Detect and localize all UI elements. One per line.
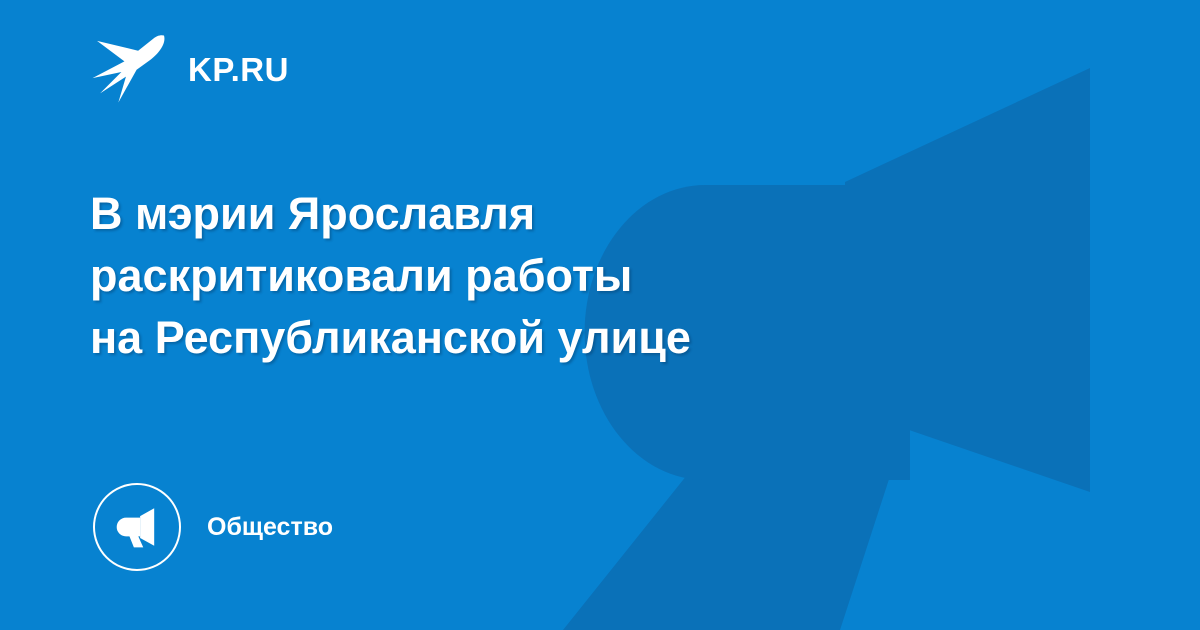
- headline-line-2: раскритиковали работы: [90, 245, 1050, 307]
- headline-line-3: на Республиканской улице: [90, 307, 1050, 369]
- category-label: Общество: [207, 515, 333, 540]
- headline-line-1: В мэрии Ярославля: [90, 183, 1050, 245]
- category-badge[interactable]: Общество: [93, 483, 333, 571]
- brand-name[interactable]: KP.RU: [188, 53, 289, 86]
- megaphone-icon: [112, 502, 162, 552]
- news-share-card: KP.RU В мэрии Ярославля раскритиковали р…: [0, 0, 1200, 630]
- site-header: KP.RU: [90, 34, 289, 104]
- swallow-bird-icon[interactable]: [90, 34, 168, 104]
- category-icon-circle: [93, 483, 181, 571]
- page-title: В мэрии Ярославля раскритиковали работы …: [90, 183, 1050, 369]
